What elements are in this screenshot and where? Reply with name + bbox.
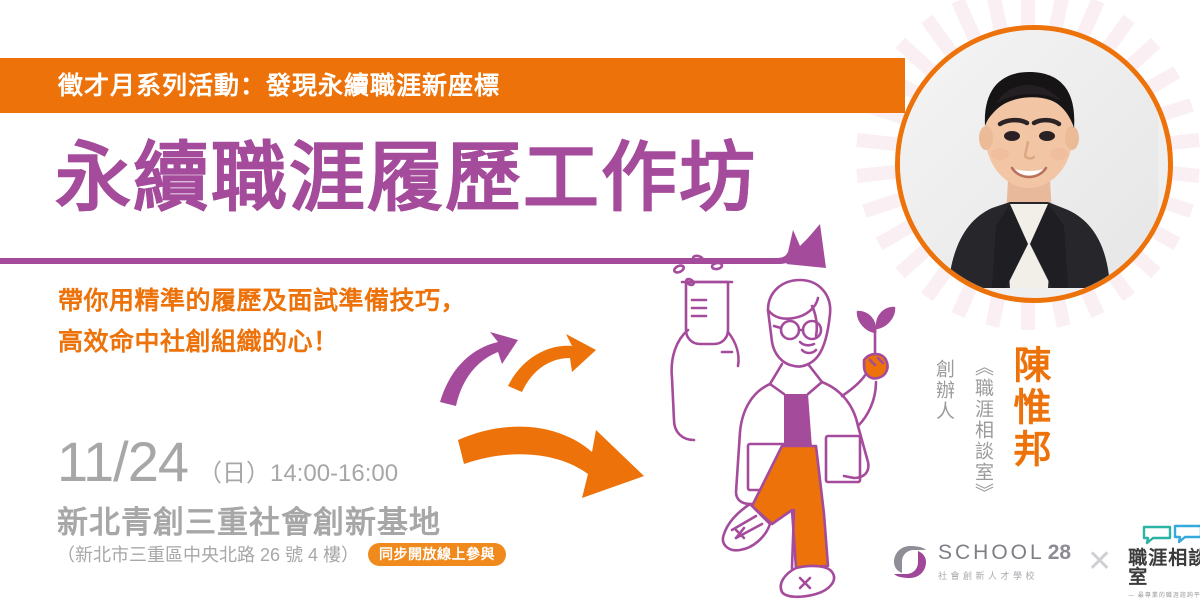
subtitle-line-2: 高效命中社創組織的心！	[58, 322, 466, 363]
event-address-row: （新北市三重區中央北路 26 號 4 樓） 同步開放線上參與	[57, 541, 506, 567]
partner-name: 職涯相談室	[1128, 549, 1200, 587]
logo-separator-icon: ✕	[1087, 547, 1112, 577]
event-address: （新北市三重區中央北路 26 號 4 樓）	[57, 541, 359, 567]
subtitle-line-1: 帶你用精準的履歷及面試準備技巧，	[58, 281, 466, 322]
school28-logo: SCHOOL 28 社會創新人才學校	[890, 542, 1071, 582]
online-participation-badge: 同步開放線上參與	[368, 543, 506, 566]
event-poster: 徵才月系列活動：發現永續職涯新座標 永續職涯履歷工作坊 永續職涯履歷工作坊 帶你…	[0, 0, 1200, 600]
orange-swoosh-arrow-large	[458, 427, 644, 498]
event-venue: 新北青創三重社會創新基地	[57, 497, 441, 542]
partner-tagline: — 最專業的職涯諮詢平台 —	[1128, 590, 1200, 599]
subtitle-block: 帶你用精準的履歷及面試準備技巧， 高效命中社創組織的心！	[58, 281, 466, 362]
school28-name: SCHOOL	[938, 542, 1045, 563]
scientist-illustration	[632, 248, 922, 600]
speaker-name: 陳惟邦	[1009, 345, 1047, 471]
speaker-portrait-photo	[895, 25, 1173, 303]
event-time: （日）14:00-16:00	[198, 453, 398, 488]
event-datetime: 11/24 （日）14:00-16:00	[57, 434, 398, 490]
banner-title: 徵才月系列活動：發現永續職涯新座標	[58, 66, 500, 102]
speech-bubbles-icon	[1141, 524, 1200, 546]
speaker-role: 創辦人	[930, 359, 957, 422]
event-date: 11/24	[57, 434, 188, 490]
school28-number: 28	[1048, 542, 1071, 563]
school28-tagline: 社會創新人才學校	[938, 569, 1071, 582]
partner-logo: 職涯相談室 — 最專業的職涯諮詢平台 —	[1128, 524, 1200, 599]
speaker-organization: 《職涯相談室》	[969, 357, 996, 504]
partner-logos: SCHOOL 28 社會創新人才學校 ✕ 職涯相談室 — 最專業的職涯諮詢平台 …	[890, 524, 1200, 599]
orange-swoosh-arrow-small	[508, 334, 596, 392]
school28-mark-icon	[890, 542, 930, 582]
page-title: 永續職涯履歷工作坊	[55, 141, 757, 217]
speaker-info: 陳惟邦 《職涯相談室》 創辦人	[930, 345, 1047, 504]
